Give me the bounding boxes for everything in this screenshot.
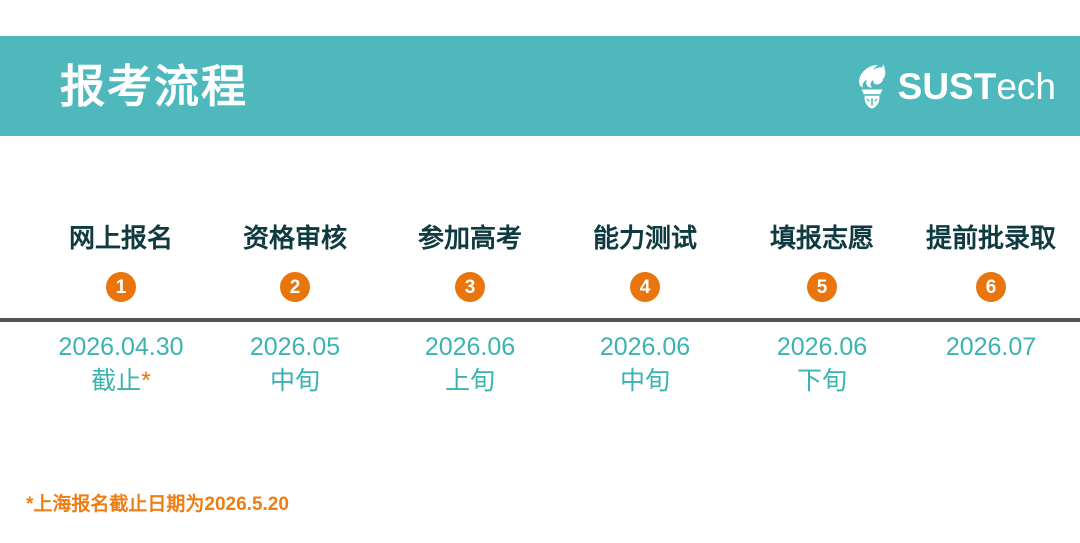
step-number-badge: 3 — [455, 272, 485, 302]
timeline-step-1[interactable]: 网上报名 1 2026.04.30 截止* — [21, 225, 221, 399]
step-date-sub-text: 下旬 — [797, 367, 847, 395]
step-date-main: 2026.04.30 — [21, 331, 221, 365]
step-date-sub-text: 上旬 — [445, 367, 495, 395]
header-banner: 报考流程 SUSTech — [0, 36, 1080, 136]
timeline-step-6[interactable]: 提前批录取 6 2026.07 — [891, 225, 1080, 365]
step-marker-row: 1 — [21, 259, 221, 315]
step-date-main: 2026.07 — [891, 331, 1080, 365]
step-date-sub: 下旬 — [722, 365, 922, 399]
step-number-badge: 4 — [630, 272, 660, 302]
step-number-badge: 1 — [106, 272, 136, 302]
step-label: 提前批录取 — [891, 225, 1080, 259]
step-date-sub-text: 截止 — [91, 367, 141, 395]
step-date-sub: 中旬 — [195, 365, 395, 399]
timeline-step-2[interactable]: 资格审核 2 2026.05 中旬 — [195, 225, 395, 399]
wordmark-light: ech — [996, 66, 1056, 107]
step-date-main: 2026.06 — [545, 331, 745, 365]
step-date-asterisk: * — [141, 367, 151, 395]
step-date-sub: 中旬 — [545, 365, 745, 399]
page-title: 报考流程 — [60, 64, 248, 109]
footnote-text: *上海报名截止日期为2026.5.20 — [26, 495, 289, 514]
step-marker-row: 3 — [370, 259, 570, 315]
step-date-sub-text: 中旬 — [620, 367, 670, 395]
step-number-badge: 2 — [280, 272, 310, 302]
sustech-wordmark: SUSTech — [898, 68, 1056, 105]
step-label: 能力测试 — [545, 225, 745, 259]
step-marker-row: 6 — [891, 259, 1080, 315]
timeline-step-3[interactable]: 参加高考 3 2026.06 上旬 — [370, 225, 570, 399]
step-date-sub-text: 中旬 — [270, 367, 320, 395]
step-number-badge: 5 — [807, 272, 837, 302]
step-marker-row: 2 — [195, 259, 395, 315]
timeline-step-4[interactable]: 能力测试 4 2026.06 中旬 — [545, 225, 745, 399]
step-date-main: 2026.06 — [370, 331, 570, 365]
step-number-badge: 6 — [976, 272, 1006, 302]
step-date-main: 2026.05 — [195, 331, 395, 365]
wordmark-bold: SUST — [898, 66, 997, 107]
step-label: 资格审核 — [195, 225, 395, 259]
process-timeline: 网上报名 1 2026.04.30 截止* 资格审核 2 2026.05 中旬 … — [0, 225, 1080, 455]
step-marker-row: 4 — [545, 259, 745, 315]
sustech-logo: SUSTech — [852, 63, 1066, 109]
step-label: 参加高考 — [370, 225, 570, 259]
step-date-sub: 截止* — [21, 365, 221, 399]
step-label: 网上报名 — [21, 225, 221, 259]
torch-flame-icon — [852, 63, 892, 109]
step-date-sub: 上旬 — [370, 365, 570, 399]
